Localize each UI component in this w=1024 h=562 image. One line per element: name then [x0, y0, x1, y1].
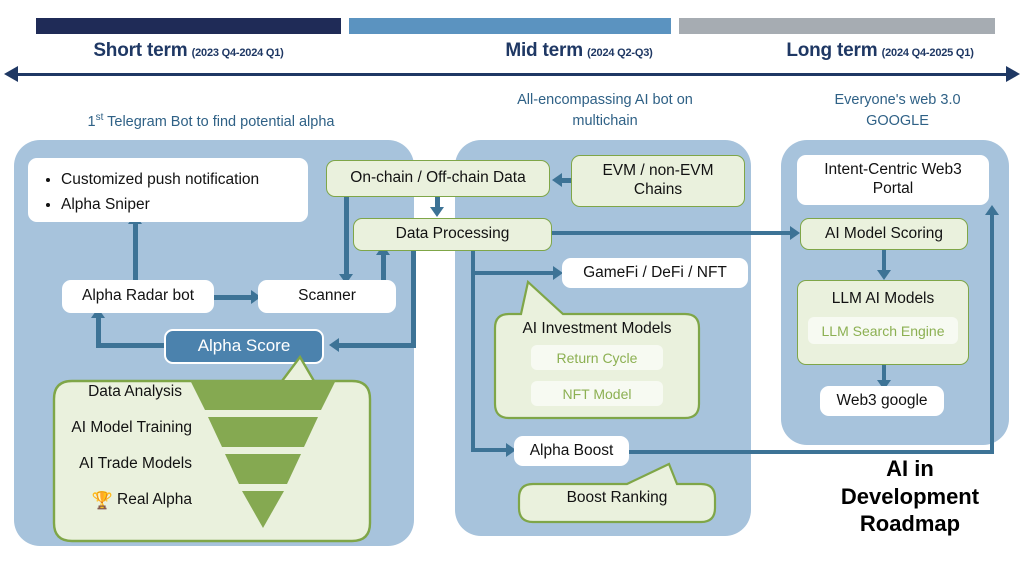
- phase-caption-short: 1st Telegram Bot to find potential alpha: [26, 90, 396, 133]
- connector-dp-to-alphaboost-h: [471, 448, 509, 452]
- node-alpha-radar-bot[interactable]: Alpha Radar bot: [62, 280, 214, 313]
- connector-dp-to-scoring-arrow-icon: [790, 226, 800, 240]
- bullet-item: Customized push notification: [61, 168, 293, 192]
- funnel-stage-1: [190, 380, 336, 410]
- funnel-label-1: Data Analysis: [62, 383, 182, 401]
- phase-heading-long: Long term (2024 Q4-2025 Q1): [740, 40, 1020, 62]
- connector-radar-to-bullets: [133, 222, 138, 282]
- node-ai-investment-models-heading: AI Investment Models: [493, 320, 701, 338]
- connector-dp-to-alphascore-v: [411, 250, 416, 345]
- phase-bar-short: [36, 18, 341, 34]
- trophy-icon: 🏆: [92, 492, 113, 509]
- connector-dp-to-alphascore-arrow-icon: [329, 338, 339, 352]
- chip-nft-model[interactable]: NFT Model: [531, 381, 663, 406]
- timeline-arrow-left-icon: [4, 66, 18, 82]
- funnel-stage-3: [225, 454, 301, 484]
- node-boost-ranking-label: Boost Ranking: [517, 489, 717, 507]
- phase-period-short: (2023 Q4-2024 Q1): [192, 47, 284, 59]
- connector-alphaboost-to-portal-h: [627, 450, 994, 454]
- roadmap-title: AI in Development Roadmap: [810, 455, 1010, 538]
- roadmap-diagram: Short term (2023 Q4-2024 Q1) Mid term (2…: [0, 0, 1024, 562]
- connector-evm-to-onchain-arrow-icon: [552, 173, 562, 187]
- node-intent-centric-portal[interactable]: Intent-Centric Web3 Portal: [797, 155, 989, 205]
- phase-caption-long: Everyone's web 3.0 GOOGLE: [775, 90, 1020, 132]
- node-data-processing[interactable]: Data Processing: [353, 218, 552, 251]
- connector-onchain-to-dp-arrow-icon: [430, 207, 444, 217]
- funnel-label-4: Real Alpha: [117, 491, 192, 509]
- connector-scoring-to-llm-arrow-icon: [877, 270, 891, 280]
- connector-alphaboost-to-portal-v: [990, 213, 994, 453]
- connector-alphascore-to-radar-v: [96, 316, 101, 346]
- funnel-stage-4: [242, 491, 284, 528]
- phase-period-mid: (2024 Q2-Q3): [587, 47, 652, 59]
- funnel-label-2: AI Model Training: [52, 419, 192, 437]
- timeline-arrow-right-icon: [1006, 66, 1020, 82]
- phase-bar-long: [679, 18, 995, 34]
- connector-alphaboost-to-portal-arrow-icon: [985, 205, 999, 215]
- node-notifications[interactable]: Customized push notification Alpha Snipe…: [28, 158, 308, 222]
- funnel-label-3: AI Trade Models: [52, 455, 192, 473]
- funnel-stage-2: [208, 417, 318, 447]
- node-llm-ai-models-heading: LLM AI Models: [797, 290, 969, 308]
- connector-radar-to-scanner: [213, 295, 253, 300]
- phase-heading-short: Short term (2023 Q4-2024 Q1): [36, 40, 341, 62]
- connector-alphascore-to-radar-h: [96, 343, 166, 348]
- phase-name-long: Long term: [786, 40, 877, 61]
- connector-dp-to-gamefi-h: [471, 271, 555, 275]
- phase-heading-mid: Mid term (2024 Q2-Q3): [449, 40, 709, 62]
- node-web3-google[interactable]: Web3 google: [820, 386, 944, 416]
- chip-return-cycle[interactable]: Return Cycle: [531, 345, 663, 370]
- phase-name-mid: Mid term: [505, 40, 583, 61]
- connector-scanner-to-dataprocessing: [381, 252, 386, 282]
- timeline-axis: [12, 73, 1012, 76]
- funnel-shape: [188, 378, 338, 530]
- node-evm-chains[interactable]: EVM / non-EVM Chains: [571, 155, 745, 207]
- phase-name-short: Short term: [93, 40, 187, 61]
- connector-dp-to-alphaboost-v: [471, 250, 475, 451]
- phase-bar-mid: [349, 18, 671, 34]
- chip-llm-search-engine[interactable]: LLM Search Engine: [808, 317, 958, 344]
- phase-caption-mid: All-encompassing AI bot on multichain: [460, 90, 750, 132]
- phase-period-long: (2024 Q4-2025 Q1): [882, 47, 974, 59]
- node-ai-model-scoring[interactable]: AI Model Scoring: [800, 218, 968, 250]
- phase-caption-short-text: 1st Telegram Bot to find potential alpha: [88, 114, 335, 130]
- funnel-label-4-wrap: 🏆 Real Alpha: [52, 491, 192, 509]
- connector-dp-to-alphascore-h: [338, 343, 416, 348]
- connector-onchain-to-scanner: [344, 196, 349, 278]
- connector-dp-to-scoring: [552, 231, 792, 235]
- bullet-item: Alpha Sniper: [61, 193, 293, 217]
- node-onchain-offchain-data[interactable]: On-chain / Off-chain Data: [326, 160, 550, 197]
- node-scanner[interactable]: Scanner: [258, 280, 396, 313]
